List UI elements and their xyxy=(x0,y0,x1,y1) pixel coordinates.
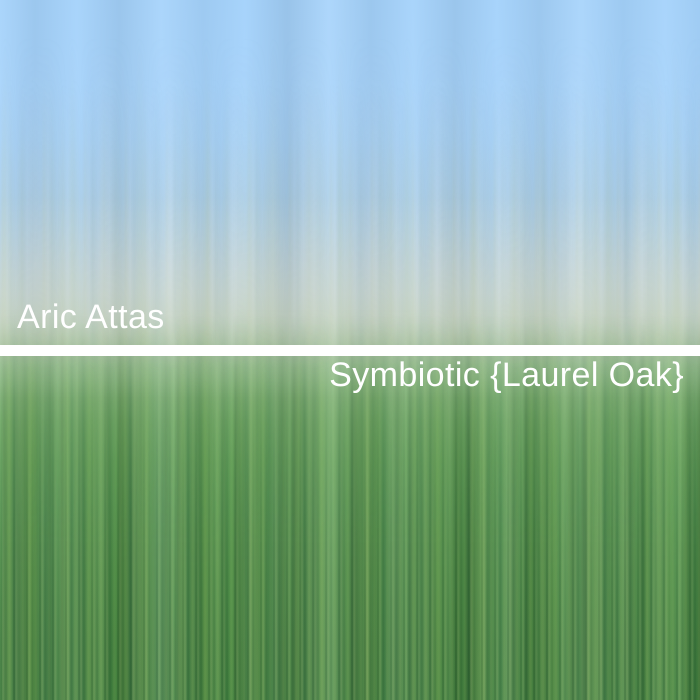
artist-name: Aric Attas xyxy=(17,297,165,337)
album-title: Symbiotic {Laurel Oak} xyxy=(329,355,684,395)
album-cover-artwork: Aric Attas Symbiotic {Laurel Oak} xyxy=(0,0,700,700)
